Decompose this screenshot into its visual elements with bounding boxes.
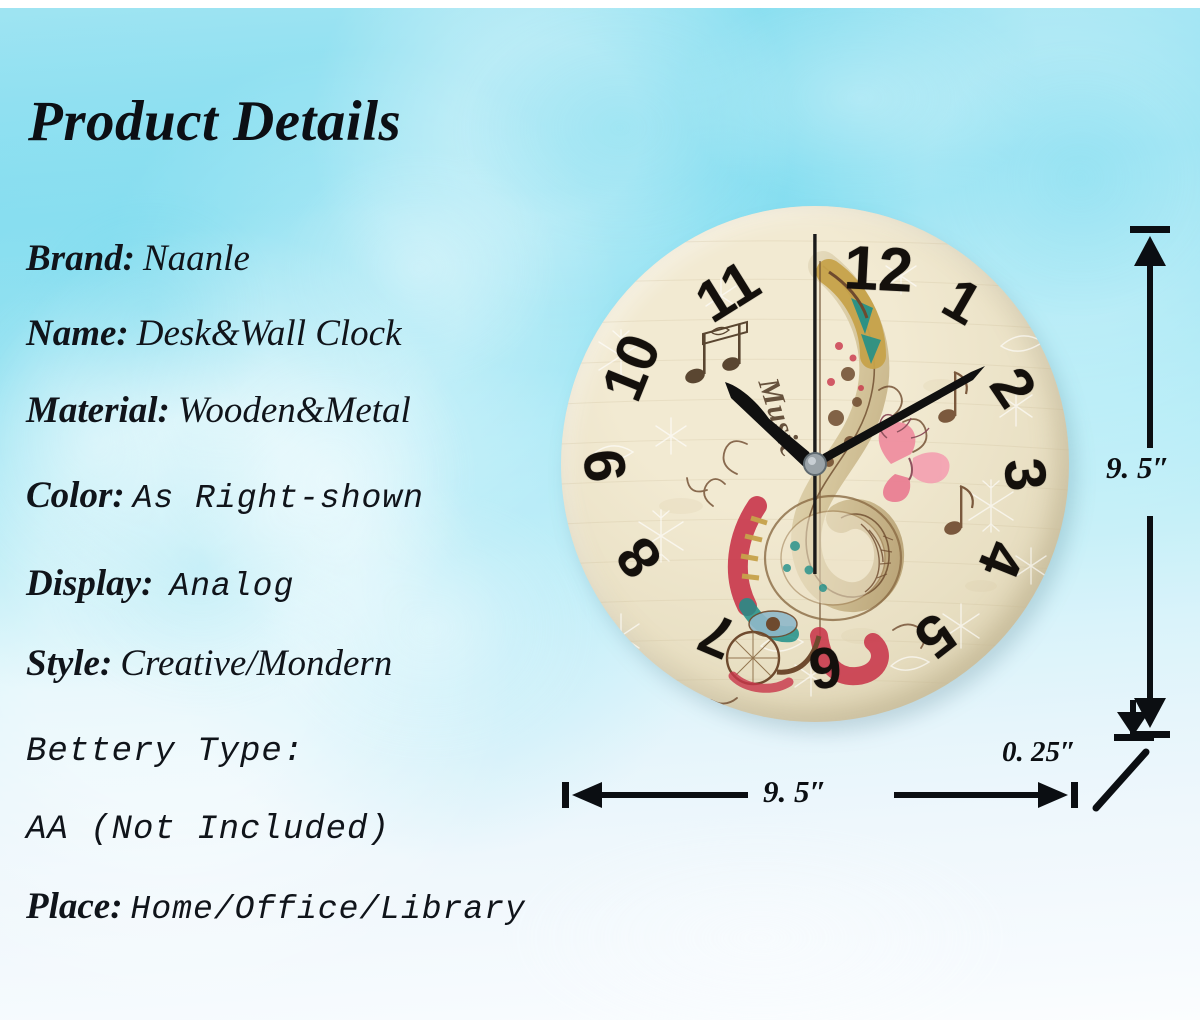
spec-value-display: Analog xyxy=(153,568,294,605)
spec-row-color: Color:As Right-shown xyxy=(26,477,424,515)
thickness-dimension-label: 0. 25″ xyxy=(1002,736,1076,769)
height-dimension-label: 9. 5″ xyxy=(1106,450,1170,486)
second-hand xyxy=(813,234,816,574)
product-clock: Music 12 1 2 3 4 5 6 7 8 9 10 11 xyxy=(561,206,1079,738)
spec-row-place: Place:Home/Office/Library xyxy=(26,888,526,926)
spec-row-battery-type: Bettery Type: xyxy=(26,730,304,769)
product-details-image: Product Details Brand:Naanle Name:Desk&W… xyxy=(0,0,1200,1020)
thickness-leader-line xyxy=(1092,700,1200,816)
spec-value-color: As Right-shown xyxy=(125,480,424,517)
clock-hands xyxy=(561,206,1069,722)
spec-key-place: Place: xyxy=(26,886,123,927)
width-dimension-label: 9. 5″ xyxy=(763,774,827,810)
spec-row-material: Material:Wooden&Metal xyxy=(26,392,411,429)
minute-hand xyxy=(815,366,985,464)
page-title: Product Details xyxy=(28,93,401,150)
spec-key-material: Material: xyxy=(26,390,170,431)
spec-value-name: Desk&Wall Clock xyxy=(129,313,402,354)
spec-row-battery-value: AA (Not Included) xyxy=(26,808,390,847)
spec-key-color: Color: xyxy=(26,475,125,516)
spec-key-display: Display: xyxy=(26,563,153,604)
spec-value-battery: AA (Not Included) xyxy=(26,811,390,849)
spec-value-brand: Naanle xyxy=(135,238,250,279)
spec-row-display: Display:Analog xyxy=(26,565,294,603)
clock-hub xyxy=(804,453,826,475)
spec-row-style: Style:Creative/Mondern xyxy=(26,645,392,682)
spec-key-style: Style: xyxy=(26,643,112,684)
spec-value-style: Creative/Mondern xyxy=(112,643,392,684)
spec-key-battery-type: Bettery Type: xyxy=(26,733,304,771)
clock-face: Music 12 1 2 3 4 5 6 7 8 9 10 11 xyxy=(561,206,1069,722)
spec-row-name: Name:Desk&Wall Clock xyxy=(26,315,402,352)
spec-value-material: Wooden&Metal xyxy=(170,390,411,431)
spec-row-brand: Brand:Naanle xyxy=(26,240,250,277)
spec-value-place: Home/Office/Library xyxy=(123,891,526,928)
spec-key-brand: Brand: xyxy=(26,238,135,279)
spec-key-name: Name: xyxy=(26,313,129,354)
